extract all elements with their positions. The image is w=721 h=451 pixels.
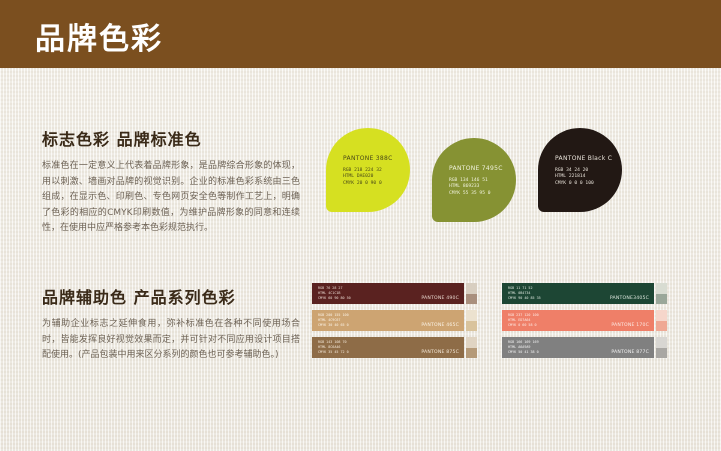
cmyk-value: CMYK 35 45 72 0 (318, 350, 349, 355)
color-swatch-drop: PANTONE Black C RGB 34 24 20 HTML 221814… (538, 128, 622, 212)
swatch-tint-tabs (656, 283, 667, 304)
cmyk-value: CMYK 30 40 65 0 (318, 323, 349, 328)
swatch-values: RGB 143 108 70 HTML 8C6A46 CMYK 35 45 72… (318, 340, 349, 354)
swatch-tint-tabs (656, 337, 667, 358)
pantone-values: RGB 34 24 20 HTML 221814 CMYK 0 0 0 100 (555, 168, 594, 187)
swatch-values: RGB 200 155 100 HTML 4C9C67 CMYK 30 40 6… (318, 313, 349, 327)
swatch-bar: RGB 11 71 52 HTML 0B4734 CMYK 90 40 85 3… (502, 283, 670, 304)
cmyk-value: CMYK 50 41 38 0 (508, 350, 539, 355)
cmyk-value: CMYK 20 0 90 0 (343, 181, 382, 187)
swatch-bar: RGB 166 169 169 HTML A6A9A9 CMYK 50 41 3… (502, 337, 670, 358)
auxiliary-swatches-left: RGB 76 28 27 HTML 4C1C1B CMYK 60 90 80 5… (312, 283, 480, 364)
color-swatch-drop: PANTONE 388C RGB 218 224 32 HTML DAE020 … (326, 128, 410, 212)
tint-tab-dark (656, 348, 667, 359)
tint-tab-light (656, 283, 667, 294)
section-auxiliary-colors: 品牌辅助色 产品系列色彩 为辅助企业标志之延伸食用，弥补标准色在各种不同使用场合… (42, 284, 300, 364)
section-body: 标准色在一定意义上代表着品牌形象，是品牌综合形象的体现，用以刺激、墙画对品牌的视… (42, 159, 300, 237)
tint-tab-light (466, 283, 477, 294)
section-standard-colors: 标志色彩 品牌标准色 标准色在一定意义上代表着品牌形象，是品牌综合形象的体现，用… (42, 126, 300, 237)
cmyk-value: CMYK 90 40 85 35 (508, 296, 541, 301)
section-body: 为辅助企业标志之延伸食用，弥补标准色在各种不同使用场合时，皆能发挥良好视觉效果而… (42, 317, 300, 364)
swatch-bar: RGB 76 28 27 HTML 4C1C1B CMYK 60 90 80 5… (312, 283, 480, 304)
swatch-tint-tabs (466, 283, 477, 304)
swatch-tint-tabs (656, 310, 667, 331)
page-header: 品牌色彩 (0, 0, 721, 68)
tint-tab-dark (466, 294, 477, 305)
cmyk-value: CMYK 0 60 58 0 (508, 323, 539, 328)
swatch-bar-body: RGB 237 120 100 HTML ED7A64 CMYK 0 60 58… (502, 310, 654, 331)
pantone-name: PANTONE 877C (611, 350, 649, 355)
tint-tab-light (656, 310, 667, 321)
standard-color-swatches: PANTONE 388C RGB 218 224 32 HTML DAE020 … (326, 126, 686, 226)
tint-tab-light (656, 337, 667, 348)
tint-tab-light (466, 310, 477, 321)
cmyk-value: CMYK 0 0 0 100 (555, 181, 594, 187)
pantone-name: PANTONE 465C (421, 323, 459, 328)
swatch-bar-body: RGB 166 169 169 HTML A6A9A9 CMYK 50 41 3… (502, 337, 654, 358)
section-title: 标志色彩 品牌标准色 (42, 126, 300, 150)
color-swatch-drop: PANTONE 7495C RGB 134 146 51 HTML 869233… (432, 138, 516, 222)
pantone-name: PANTONE3405C (610, 296, 649, 301)
cmyk-value: CMYK 55 35 95 0 (449, 191, 491, 197)
swatch-bar-body: RGB 200 155 100 HTML 4C9C67 CMYK 30 40 6… (312, 310, 464, 331)
pantone-name: PANTONE 170C (611, 323, 649, 328)
tint-tab-dark (466, 321, 477, 332)
pantone-name: PANTONE 388C (343, 155, 393, 162)
pantone-name: PANTONE 875C (421, 350, 459, 355)
pantone-values: RGB 218 224 32 HTML DAE020 CMYK 20 0 90 … (343, 168, 382, 187)
page-title: 品牌色彩 (35, 14, 163, 58)
swatch-bar-body: RGB 11 71 52 HTML 0B4734 CMYK 90 40 85 3… (502, 283, 654, 304)
swatch-values: RGB 11 71 52 HTML 0B4734 CMYK 90 40 85 3… (508, 286, 541, 300)
tint-tab-dark (656, 294, 667, 305)
swatch-values: RGB 76 28 27 HTML 4C1C1B CMYK 60 90 80 5… (318, 286, 351, 300)
swatch-tint-tabs (466, 310, 477, 331)
pantone-name: PANTONE 490C (421, 296, 459, 301)
pantone-values: RGB 134 146 51 HTML 869233 CMYK 55 35 95… (449, 178, 491, 197)
swatch-bar: RGB 143 108 70 HTML 8C6A46 CMYK 35 45 72… (312, 337, 480, 358)
swatch-tint-tabs (466, 337, 477, 358)
section-title: 品牌辅助色 产品系列色彩 (42, 284, 300, 308)
pantone-name: PANTONE Black C (555, 155, 612, 162)
swatch-bar-body: RGB 76 28 27 HTML 4C1C1B CMYK 60 90 80 5… (312, 283, 464, 304)
swatch-bar: RGB 237 120 100 HTML ED7A64 CMYK 0 60 58… (502, 310, 670, 331)
tint-tab-light (466, 337, 477, 348)
swatch-bar: RGB 200 155 100 HTML 4C9C67 CMYK 30 40 6… (312, 310, 480, 331)
swatch-values: RGB 166 169 169 HTML A6A9A9 CMYK 50 41 3… (508, 340, 539, 354)
swatch-bar-body: RGB 143 108 70 HTML 8C6A46 CMYK 35 45 72… (312, 337, 464, 358)
tint-tab-dark (466, 348, 477, 359)
page-background: 品牌色彩 标志色彩 品牌标准色 标准色在一定意义上代表着品牌形象，是品牌综合形象… (0, 0, 721, 451)
auxiliary-swatches-right: RGB 11 71 52 HTML 0B4734 CMYK 90 40 85 3… (502, 283, 670, 364)
pantone-name: PANTONE 7495C (449, 165, 503, 172)
tint-tab-dark (656, 321, 667, 332)
swatch-values: RGB 237 120 100 HTML ED7A64 CMYK 0 60 58… (508, 313, 539, 327)
cmyk-value: CMYK 60 90 80 50 (318, 296, 351, 301)
